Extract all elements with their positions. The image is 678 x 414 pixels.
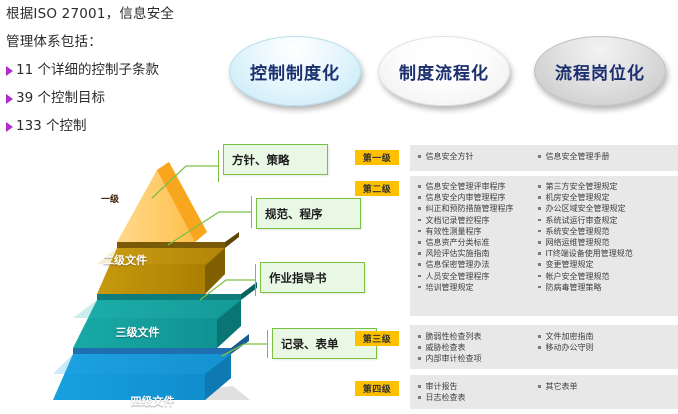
bullet-icon xyxy=(538,263,541,266)
badge-level-4: 第四级 xyxy=(355,381,399,396)
panel-level-1-col-right: 信息安全管理手册 xyxy=(538,151,610,162)
bullet-icon xyxy=(538,230,541,233)
document-hierarchy-pyramid: 一级 二级文件 三级文件 四级文件 xyxy=(45,148,260,410)
intro-line-2: 管理体系包括： xyxy=(6,34,221,51)
list-item: 防病毒管理策略 xyxy=(538,282,633,293)
list-item-label: 有效性测量程序 xyxy=(426,226,482,237)
callout-spec-procedure[interactable]: 规范、程序 xyxy=(256,198,361,229)
panel-level-4-col-right: 其它表单 xyxy=(538,381,578,392)
list-item-label: 文件加密指南 xyxy=(546,331,594,342)
list-item: 文档记录管控程序 xyxy=(418,215,514,226)
bullet-icon xyxy=(418,396,421,399)
bullet-icon xyxy=(538,241,541,244)
list-item-label: 风险评估实施指南 xyxy=(426,248,490,259)
list-item-label: 纠正和预防措施管理程序 xyxy=(426,203,514,214)
bullet-icon xyxy=(418,346,421,349)
bullet-icon xyxy=(538,207,541,210)
callout-stub-3 xyxy=(255,264,256,296)
triangle-bullet-icon xyxy=(6,66,13,76)
list-item: 信息资产分类标准 xyxy=(418,237,514,248)
intro-bullet-2-label: 39 个控制目标 xyxy=(16,90,105,107)
bullet-icon xyxy=(538,155,541,158)
list-item: 办公区域安全管理规定 xyxy=(538,203,633,214)
oval-process-position: 流程岗位化 xyxy=(534,36,666,106)
panel-level-2-col-left: 信息安全管理评审程序 信息安全内审管理程序 纠正和预防措施管理程序 文档记录管控… xyxy=(418,181,514,293)
list-item: 机房安全管理规定 xyxy=(538,192,633,203)
list-item: IT终端设备使用管理规范 xyxy=(538,248,633,259)
bullet-icon xyxy=(418,230,421,233)
list-item-label: 防病毒管理策略 xyxy=(546,282,602,293)
callout-policy-strategy[interactable]: 方针、策略 xyxy=(223,144,328,175)
bullet-icon xyxy=(538,346,541,349)
list-item-label: 其它表单 xyxy=(546,381,578,392)
bullet-icon xyxy=(538,196,541,199)
list-item-label: 信息安全管理手册 xyxy=(546,151,610,162)
badge-level-1: 第一级 xyxy=(355,150,399,165)
badge-level-2: 第二级 xyxy=(355,181,399,196)
list-item-label: 人员安全管理程序 xyxy=(426,271,490,282)
intro-bullet-3-label: 133 个控制 xyxy=(16,118,87,135)
callout-stub-2 xyxy=(251,196,252,228)
bullet-icon xyxy=(418,155,421,158)
list-item-label: 系统安全管理规范 xyxy=(546,226,610,237)
bullet-icon xyxy=(538,252,541,255)
callout-stub-1 xyxy=(218,150,219,182)
list-item: 审计报告 xyxy=(418,381,466,392)
list-item: 信息安全管理评审程序 xyxy=(418,181,514,192)
bullet-icon xyxy=(538,335,541,338)
panel-level-4-col-left: 审计报告 日志检查表 xyxy=(418,381,466,403)
panel-level-2-col-right: 第三方安全管理规定 机房安全管理规定 办公区域安全管理规定 系统试运行审查规定 … xyxy=(538,181,633,293)
list-item-label: 办公区域安全管理规定 xyxy=(546,203,626,214)
list-item-label: 威胁检查表 xyxy=(426,342,466,353)
list-item: 威胁检查表 xyxy=(418,342,482,353)
bullet-icon xyxy=(538,219,541,222)
list-item: 帐户安全管理规范 xyxy=(538,271,633,282)
bullet-icon xyxy=(418,207,421,210)
list-item: 人员安全管理程序 xyxy=(418,271,514,282)
list-item: 变更管理规定 xyxy=(538,259,633,270)
list-item-label: 网络运维管理规范 xyxy=(546,237,610,248)
callout-stub-4 xyxy=(267,330,268,358)
list-item: 移动办公守则 xyxy=(538,342,594,353)
list-item: 信息安全方针 xyxy=(418,151,474,162)
panel-level-1-col-left: 信息安全方针 xyxy=(418,151,474,162)
intro-text-block: 根据ISO 27001，信息安全 管理体系包括： 11 个详细的控制子条款 39… xyxy=(6,6,221,146)
pyramid-level-2-label: 二级文件 xyxy=(45,252,205,268)
bullet-icon xyxy=(418,335,421,338)
list-item: 信息保密管理办法 xyxy=(418,259,514,270)
badge-level-3: 第三级 xyxy=(355,331,399,346)
panel-level-3-col-left: 脆弱性检查列表 威胁检查表 内部审计检查项 xyxy=(418,331,482,365)
list-item: 有效性测量程序 xyxy=(418,226,514,237)
intro-bullet-1: 11 个详细的控制子条款 xyxy=(6,62,221,79)
list-item-label: 帐户安全管理规范 xyxy=(546,271,610,282)
bullet-icon xyxy=(418,357,421,360)
list-item-label: 审计报告 xyxy=(426,381,458,392)
pyramid-level-1-label: 一级 xyxy=(45,192,175,205)
bullet-icon xyxy=(418,219,421,222)
oval-institution-process: 制度流程化 xyxy=(378,36,510,106)
oval-control-institutionalization: 控制制度化 xyxy=(229,36,361,106)
bullet-icon xyxy=(418,286,421,289)
list-item: 其它表单 xyxy=(538,381,578,392)
list-item: 信息安全内审管理程序 xyxy=(418,192,514,203)
list-item: 系统试运行审查规定 xyxy=(538,215,633,226)
list-item-label: 第三方安全管理规定 xyxy=(546,181,618,192)
list-item-label: 文档记录管控程序 xyxy=(426,215,490,226)
bullet-icon xyxy=(418,241,421,244)
bullet-icon xyxy=(418,185,421,188)
triangle-bullet-icon xyxy=(6,94,13,104)
bullet-icon xyxy=(418,275,421,278)
bullet-icon xyxy=(418,385,421,388)
list-item-label: 变更管理规定 xyxy=(546,259,594,270)
intro-line-1: 根据ISO 27001，信息安全 xyxy=(6,6,221,23)
list-item-label: 内部审计检查项 xyxy=(426,353,482,364)
bullet-icon xyxy=(538,185,541,188)
list-item: 风险评估实施指南 xyxy=(418,248,514,259)
list-item: 网络运维管理规范 xyxy=(538,237,633,248)
bullet-icon xyxy=(418,263,421,266)
list-item-label: 移动办公守则 xyxy=(546,342,594,353)
triangle-bullet-icon xyxy=(6,122,13,132)
list-item: 培训管理规定 xyxy=(418,282,514,293)
intro-bullet-2: 39 个控制目标 xyxy=(6,90,221,107)
pyramid-level-4-label: 四级文件 xyxy=(45,393,260,409)
callout-work-instruction[interactable]: 作业指导书 xyxy=(260,262,365,293)
list-item: 系统安全管理规范 xyxy=(538,226,633,237)
list-item-label: IT终端设备使用管理规范 xyxy=(546,248,633,259)
list-item: 信息安全管理手册 xyxy=(538,151,610,162)
list-item-label: 系统试运行审查规定 xyxy=(546,215,618,226)
slide-canvas: 根据ISO 27001，信息安全 管理体系包括： 11 个详细的控制子条款 39… xyxy=(0,0,678,414)
pyramid-graphic xyxy=(45,148,260,410)
bullet-icon xyxy=(538,286,541,289)
list-item-label: 信息安全方针 xyxy=(426,151,474,162)
list-item-label: 日志检查表 xyxy=(426,392,466,403)
list-item-label: 培训管理规定 xyxy=(426,282,474,293)
list-item-label: 机房安全管理规定 xyxy=(546,192,610,203)
list-item-label: 信息资产分类标准 xyxy=(426,237,490,248)
list-item: 内部审计检查项 xyxy=(418,353,482,364)
list-item: 脆弱性检查列表 xyxy=(418,331,482,342)
list-item: 日志检查表 xyxy=(418,392,466,403)
panel-level-3-col-right: 文件加密指南 移动办公守则 xyxy=(538,331,594,353)
intro-bullet-3: 133 个控制 xyxy=(6,118,221,135)
bullet-icon xyxy=(538,275,541,278)
list-item-label: 信息安全内审管理程序 xyxy=(426,192,506,203)
list-item-label: 信息保密管理办法 xyxy=(426,259,490,270)
bullet-icon xyxy=(418,196,421,199)
intro-bullet-1-label: 11 个详细的控制子条款 xyxy=(16,62,159,79)
list-item: 第三方安全管理规定 xyxy=(538,181,633,192)
pyramid-level-3-label: 三级文件 xyxy=(45,324,230,340)
bullet-icon xyxy=(538,385,541,388)
list-item-label: 信息安全管理评审程序 xyxy=(426,181,506,192)
bullet-icon xyxy=(418,252,421,255)
list-item-label: 脆弱性检查列表 xyxy=(426,331,482,342)
list-item: 文件加密指南 xyxy=(538,331,594,342)
list-item: 纠正和预防措施管理程序 xyxy=(418,203,514,214)
